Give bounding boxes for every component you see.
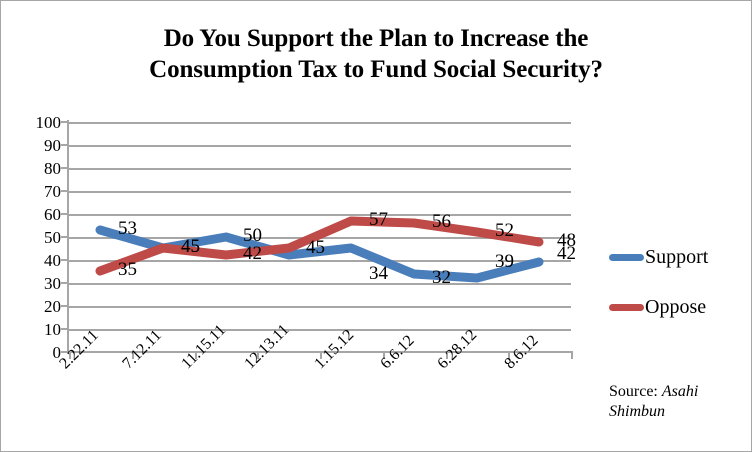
y-tick-80 [61, 167, 69, 169]
y-axis-label-20: 20 [9, 298, 61, 315]
chart-title: Do You Support the Plan to Increase the … [41, 23, 711, 85]
y-tick-90 [61, 144, 69, 146]
legend-item-support[interactable]: Support [609, 241, 749, 273]
data-label-support-0: 53 [118, 219, 137, 238]
data-label-oppose-1: 45 [181, 237, 200, 256]
y-axis-label-50: 50 [9, 229, 61, 246]
y-tick-40 [61, 259, 69, 261]
y-axis-label-90: 90 [9, 137, 61, 154]
y-axis-label-70: 70 [9, 183, 61, 200]
y-tick-20 [61, 305, 69, 307]
data-label-support-5: 32 [432, 268, 451, 287]
y-tick-100 [61, 121, 69, 123]
legend-item-oppose[interactable]: Oppose [609, 291, 749, 323]
chart-legend: Support Oppose [609, 241, 749, 341]
x-tick-8 [571, 352, 573, 359]
source-note: Source: Asahi Shimbun [609, 382, 739, 422]
legend-swatch-support-icon [609, 254, 644, 261]
y-tick-70 [61, 190, 69, 192]
data-label-oppose-4: 56 [432, 212, 451, 231]
y-axis-label-40: 40 [9, 252, 61, 269]
legend-label-oppose: Oppose [645, 297, 706, 317]
y-tick-60 [61, 213, 69, 215]
y-axis-label-30: 30 [9, 275, 61, 292]
y-axis-label-100: 100 [9, 114, 61, 131]
y-tick-50 [61, 236, 69, 238]
data-label-oppose-6: 48 [557, 231, 576, 250]
chart-container: Do You Support the Plan to Increase the … [0, 0, 752, 452]
y-axis-label-60: 60 [9, 206, 61, 223]
y-axis-labels: 100 90 80 70 60 50 40 30 20 10 0 [5, 1, 61, 452]
data-label-support-4: 34 [369, 264, 388, 283]
y-axis-label-0: 0 [9, 344, 61, 361]
y-axis-label-80: 80 [9, 160, 61, 177]
chart-title-line-1: Do You Support the Plan to Increase the [41, 23, 711, 54]
data-label-oppose-5: 52 [495, 221, 514, 240]
data-label-oppose-3: 57 [369, 210, 388, 229]
y-tick-10 [61, 328, 69, 330]
chart-title-line-2: Consumption Tax to Fund Social Security? [41, 54, 711, 85]
data-label-support-3: 45 [306, 238, 325, 257]
source-prefix: Source: [609, 383, 662, 400]
data-label-oppose-2: 42 [243, 244, 262, 263]
data-label-oppose-0: 35 [118, 260, 137, 279]
legend-swatch-oppose-icon [609, 304, 644, 311]
y-tick-30 [61, 282, 69, 284]
y-axis-label-10: 10 [9, 321, 61, 338]
data-label-support-6: 39 [495, 252, 514, 271]
legend-label-support: Support [645, 247, 708, 267]
